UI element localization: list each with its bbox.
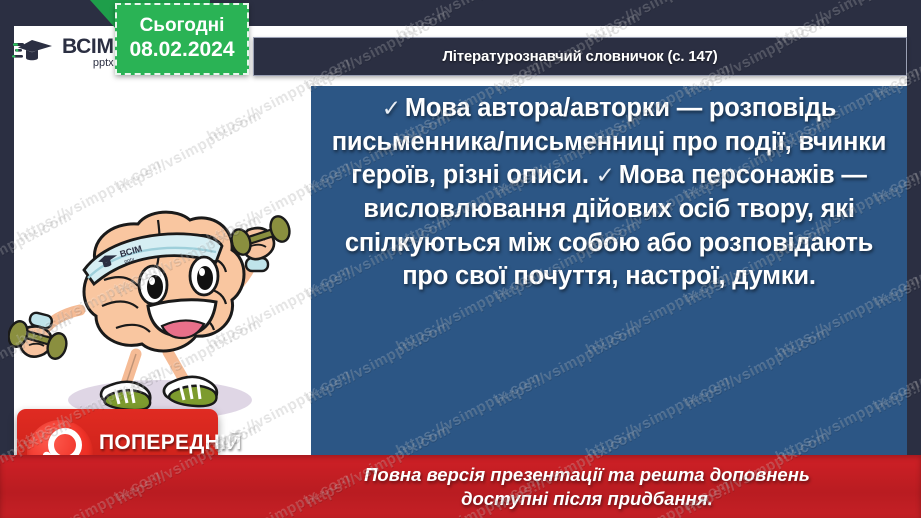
check-icon: ✓ (382, 95, 401, 121)
brain-mascot-illustration: ВСІМ pptx (8, 188, 308, 438)
graduation-cap-icon (12, 36, 58, 70)
check-icon: ✓ (596, 162, 615, 188)
date-badge: Сьогодні 08.02.2024 (115, 3, 249, 75)
slide-root: ВСІМ pptx Сьогодні 08.02.2024 Літературо… (0, 0, 921, 518)
date-value: 08.02.2024 (129, 37, 234, 62)
logo-name: ВСІМ (62, 37, 114, 57)
today-label: Сьогодні (140, 15, 225, 37)
purchase-banner-line-2: доступні після придбання. (461, 487, 713, 510)
page-title: Літературознавчий словничок (с. 147) (442, 48, 717, 65)
definition-list: ✓Мова автора/авторки — розповідь письмен… (321, 92, 897, 294)
preview-line-1: ПОПЕРЕДНІЙ (99, 432, 242, 453)
purchase-banner-text: Повна версія презентації та решта доповн… (253, 455, 921, 518)
logo-wordmark: ВСІМ pptx (62, 37, 114, 68)
brand-logo: ВСІМ pptx (12, 30, 117, 76)
logo-subtitle: pptx (62, 58, 114, 68)
slide-title-bar: Літературознавчий словничок (с. 147) (253, 37, 907, 76)
purchase-banner: Повна версія презентації та решта доповн… (0, 455, 921, 518)
content-panel: ✓Мова автора/авторки — розповідь письмен… (311, 86, 907, 487)
purchase-banner-line-1: Повна версія презентації та решта доповн… (364, 463, 810, 486)
